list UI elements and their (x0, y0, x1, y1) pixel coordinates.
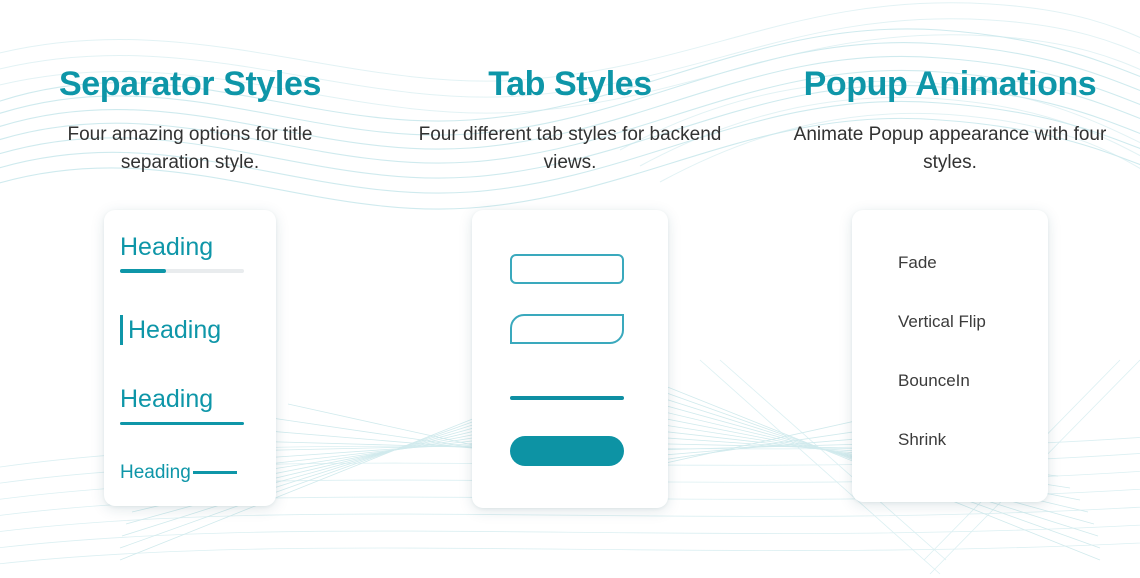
page-title-separator-styles: Separator Styles (59, 66, 321, 103)
tab-style-underline-bar[interactable] (510, 396, 624, 400)
column-separator-styles: Separator Styles Four amazing options fo… (0, 0, 380, 506)
subtitle-separator-styles: Four amazing options for title separatio… (25, 121, 355, 176)
column-popup-animations: Popup Animations Animate Popup appearanc… (760, 0, 1140, 502)
list-item-shrink[interactable]: Shrink (852, 431, 1048, 448)
list-item-vertical-flip[interactable]: Vertical Flip (852, 313, 1048, 330)
page-title-popup-animations: Popup Animations (804, 66, 1097, 103)
popup-animation-list: Fade Vertical Flip BounceIn Shrink (852, 210, 1048, 448)
separator-heading-label: Heading (120, 463, 191, 482)
separator-style-underline-partial[interactable]: Heading (120, 235, 244, 273)
list-item-bouncein[interactable]: BounceIn (852, 372, 1048, 389)
page-title-tab-styles: Tab Styles (488, 66, 652, 103)
tab-style-filled-pill[interactable] (510, 436, 624, 466)
subtitle-tab-styles: Four different tab styles for backend vi… (405, 121, 735, 176)
separator-style-underline-full[interactable]: Heading (120, 387, 244, 425)
separator-rule-inline (193, 471, 237, 474)
tab-style-diagonal-rounded-outline[interactable] (510, 314, 624, 344)
separator-style-left-vertical-bar[interactable]: Heading (120, 315, 221, 345)
separator-heading-label: Heading (128, 318, 221, 343)
separator-rule-full (120, 422, 244, 425)
separator-preview-card: Heading Heading Heading Heading (104, 210, 276, 506)
separator-style-inline-trailing-line[interactable]: Heading (120, 463, 237, 482)
list-item-fade[interactable]: Fade (852, 254, 1048, 271)
separator-rule-vertical (120, 315, 123, 345)
popup-animations-card: Fade Vertical Flip BounceIn Shrink (852, 210, 1048, 502)
separator-heading-label: Heading (120, 387, 244, 412)
separator-heading-label: Heading (120, 235, 244, 260)
tab-style-rounded-outline[interactable] (510, 254, 624, 284)
tab-preview-card (472, 210, 668, 508)
subtitle-popup-animations: Animate Popup appearance with four style… (785, 121, 1115, 176)
column-tab-styles: Tab Styles Four different tab styles for… (380, 0, 760, 508)
feature-columns: Separator Styles Four amazing options fo… (0, 0, 1140, 578)
separator-rule-partial (120, 269, 244, 273)
